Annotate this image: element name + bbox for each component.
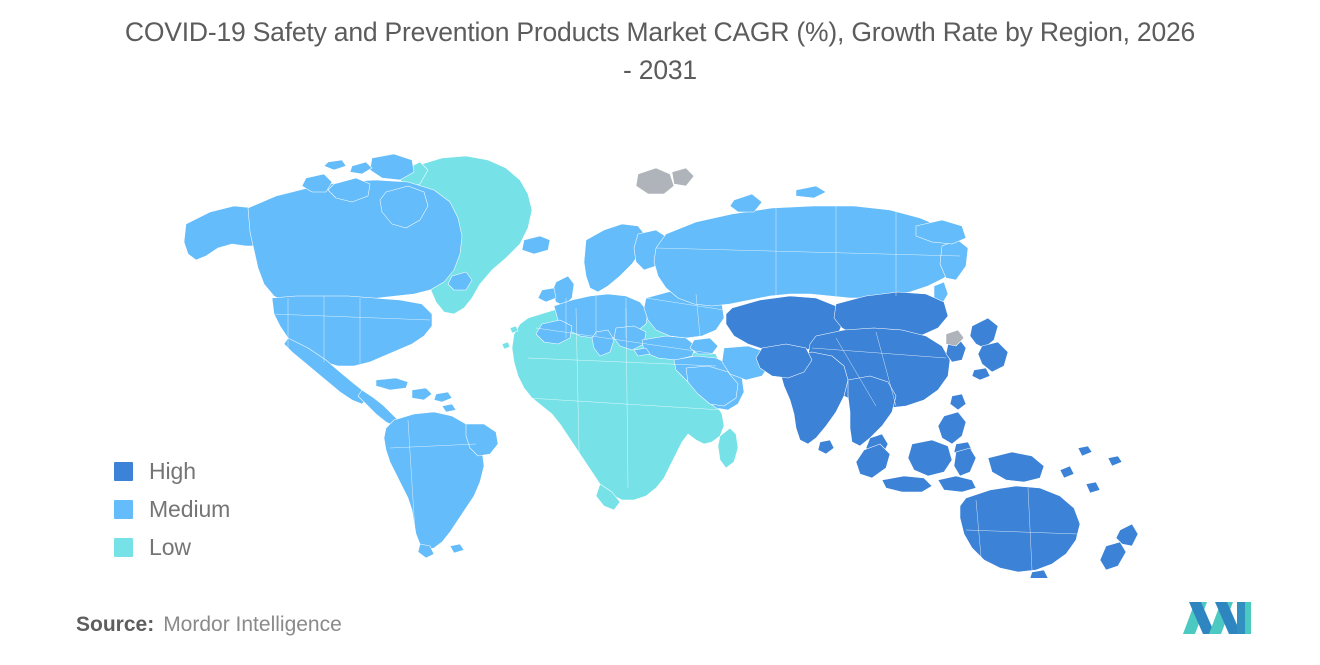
- region-sumatra: [856, 444, 890, 478]
- region-australia: [960, 486, 1080, 572]
- mordor-intelligence-logo[interactable]: [1181, 596, 1259, 640]
- legend-swatch-low: [114, 538, 133, 557]
- region-falklands: [450, 544, 464, 553]
- region-kamchatka: [940, 240, 968, 280]
- region-caribbean-islets2: [442, 404, 456, 412]
- region-caribbean-islets: [434, 392, 452, 402]
- region-sri-lanka: [818, 440, 834, 454]
- region-tasmania: [1030, 570, 1048, 578]
- region-iceland: [522, 236, 550, 254]
- legend-item-medium[interactable]: Medium: [114, 490, 230, 528]
- source-line: Source: Mordor Intelligence: [76, 613, 342, 637]
- region-java: [882, 476, 932, 492]
- region-pacific-islets-1: [1060, 466, 1074, 478]
- legend-swatch-medium: [114, 500, 133, 519]
- region-japan-kyushu: [972, 368, 990, 380]
- region-hispaniola: [412, 388, 432, 400]
- logo-shape-blue-i: [1237, 602, 1245, 634]
- region-indochina: [848, 376, 896, 446]
- legend-item-high[interactable]: High: [114, 452, 230, 490]
- region-philippines: [938, 412, 966, 444]
- legend-label-high: High: [149, 458, 196, 485]
- region-svalbard-east: [672, 168, 694, 186]
- map-legend: High Medium Low: [114, 452, 230, 566]
- region-indonesia-islets: [938, 476, 976, 492]
- region-svalbard: [636, 168, 674, 194]
- source-value: Mordor Intelligence: [163, 613, 342, 637]
- region-papua-new-guinea: [988, 452, 1044, 482]
- region-cuba: [376, 378, 408, 390]
- region-novaya-zemlya: [730, 194, 762, 212]
- chart-title: COVID-19 Safety and Prevention Products …: [15, 14, 1305, 89]
- region-ireland: [538, 288, 556, 302]
- legend-label-low: Low: [149, 534, 191, 561]
- region-sulawesi: [954, 448, 976, 476]
- region-arctic-islets2: [324, 160, 346, 170]
- region-central-america: [358, 390, 398, 426]
- chart-figure: COVID-19 Safety and Prevention Products …: [0, 0, 1320, 665]
- region-pacific-islets-5: [1078, 446, 1092, 456]
- region-pacific-islets-4: [1108, 456, 1122, 466]
- region-caucasus: [690, 338, 718, 354]
- legend-swatch-high: [114, 462, 133, 481]
- region-pacific-islets-2: [1086, 482, 1100, 493]
- world-map-svg: [176, 148, 1188, 578]
- source-label: Source:: [76, 613, 154, 637]
- region-arctic-russia-islets: [796, 186, 826, 198]
- region-taiwan: [950, 394, 966, 410]
- legend-item-low[interactable]: Low: [114, 528, 230, 566]
- region-arctic-islets: [350, 162, 372, 174]
- region-japan-honshu: [978, 342, 1008, 372]
- region-cape-verde: [502, 342, 510, 349]
- legend-label-medium: Medium: [149, 496, 230, 523]
- region-new-zealand-south: [1100, 542, 1126, 570]
- world-map: [176, 148, 1188, 578]
- region-borneo: [908, 440, 952, 476]
- logo-svg: [1181, 596, 1259, 640]
- region-group-high: [726, 292, 1138, 578]
- region-russia: [654, 206, 962, 306]
